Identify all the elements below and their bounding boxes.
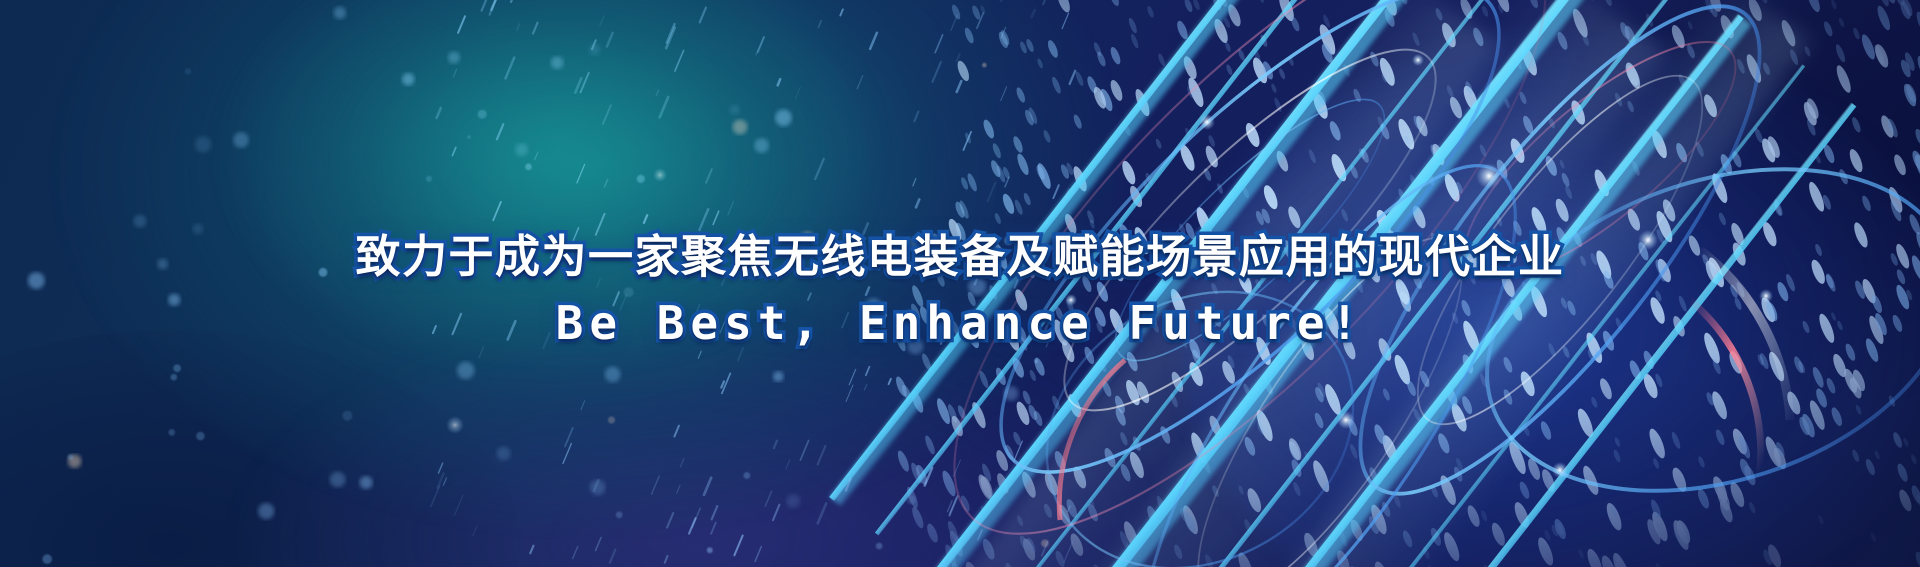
headline-block: 致力于成为一家聚焦无线电装备及赋能场景应用的现代企业 Be Best, Enha… — [0, 232, 1920, 351]
headline-chinese: 致力于成为一家聚焦无线电装备及赋能场景应用的现代企业 — [0, 232, 1920, 282]
headline-english: Be Best, Enhance Future! — [0, 296, 1920, 350]
hero-banner: 致力于成为一家聚焦无线电装备及赋能场景应用的现代企业 Be Best, Enha… — [0, 0, 1920, 567]
